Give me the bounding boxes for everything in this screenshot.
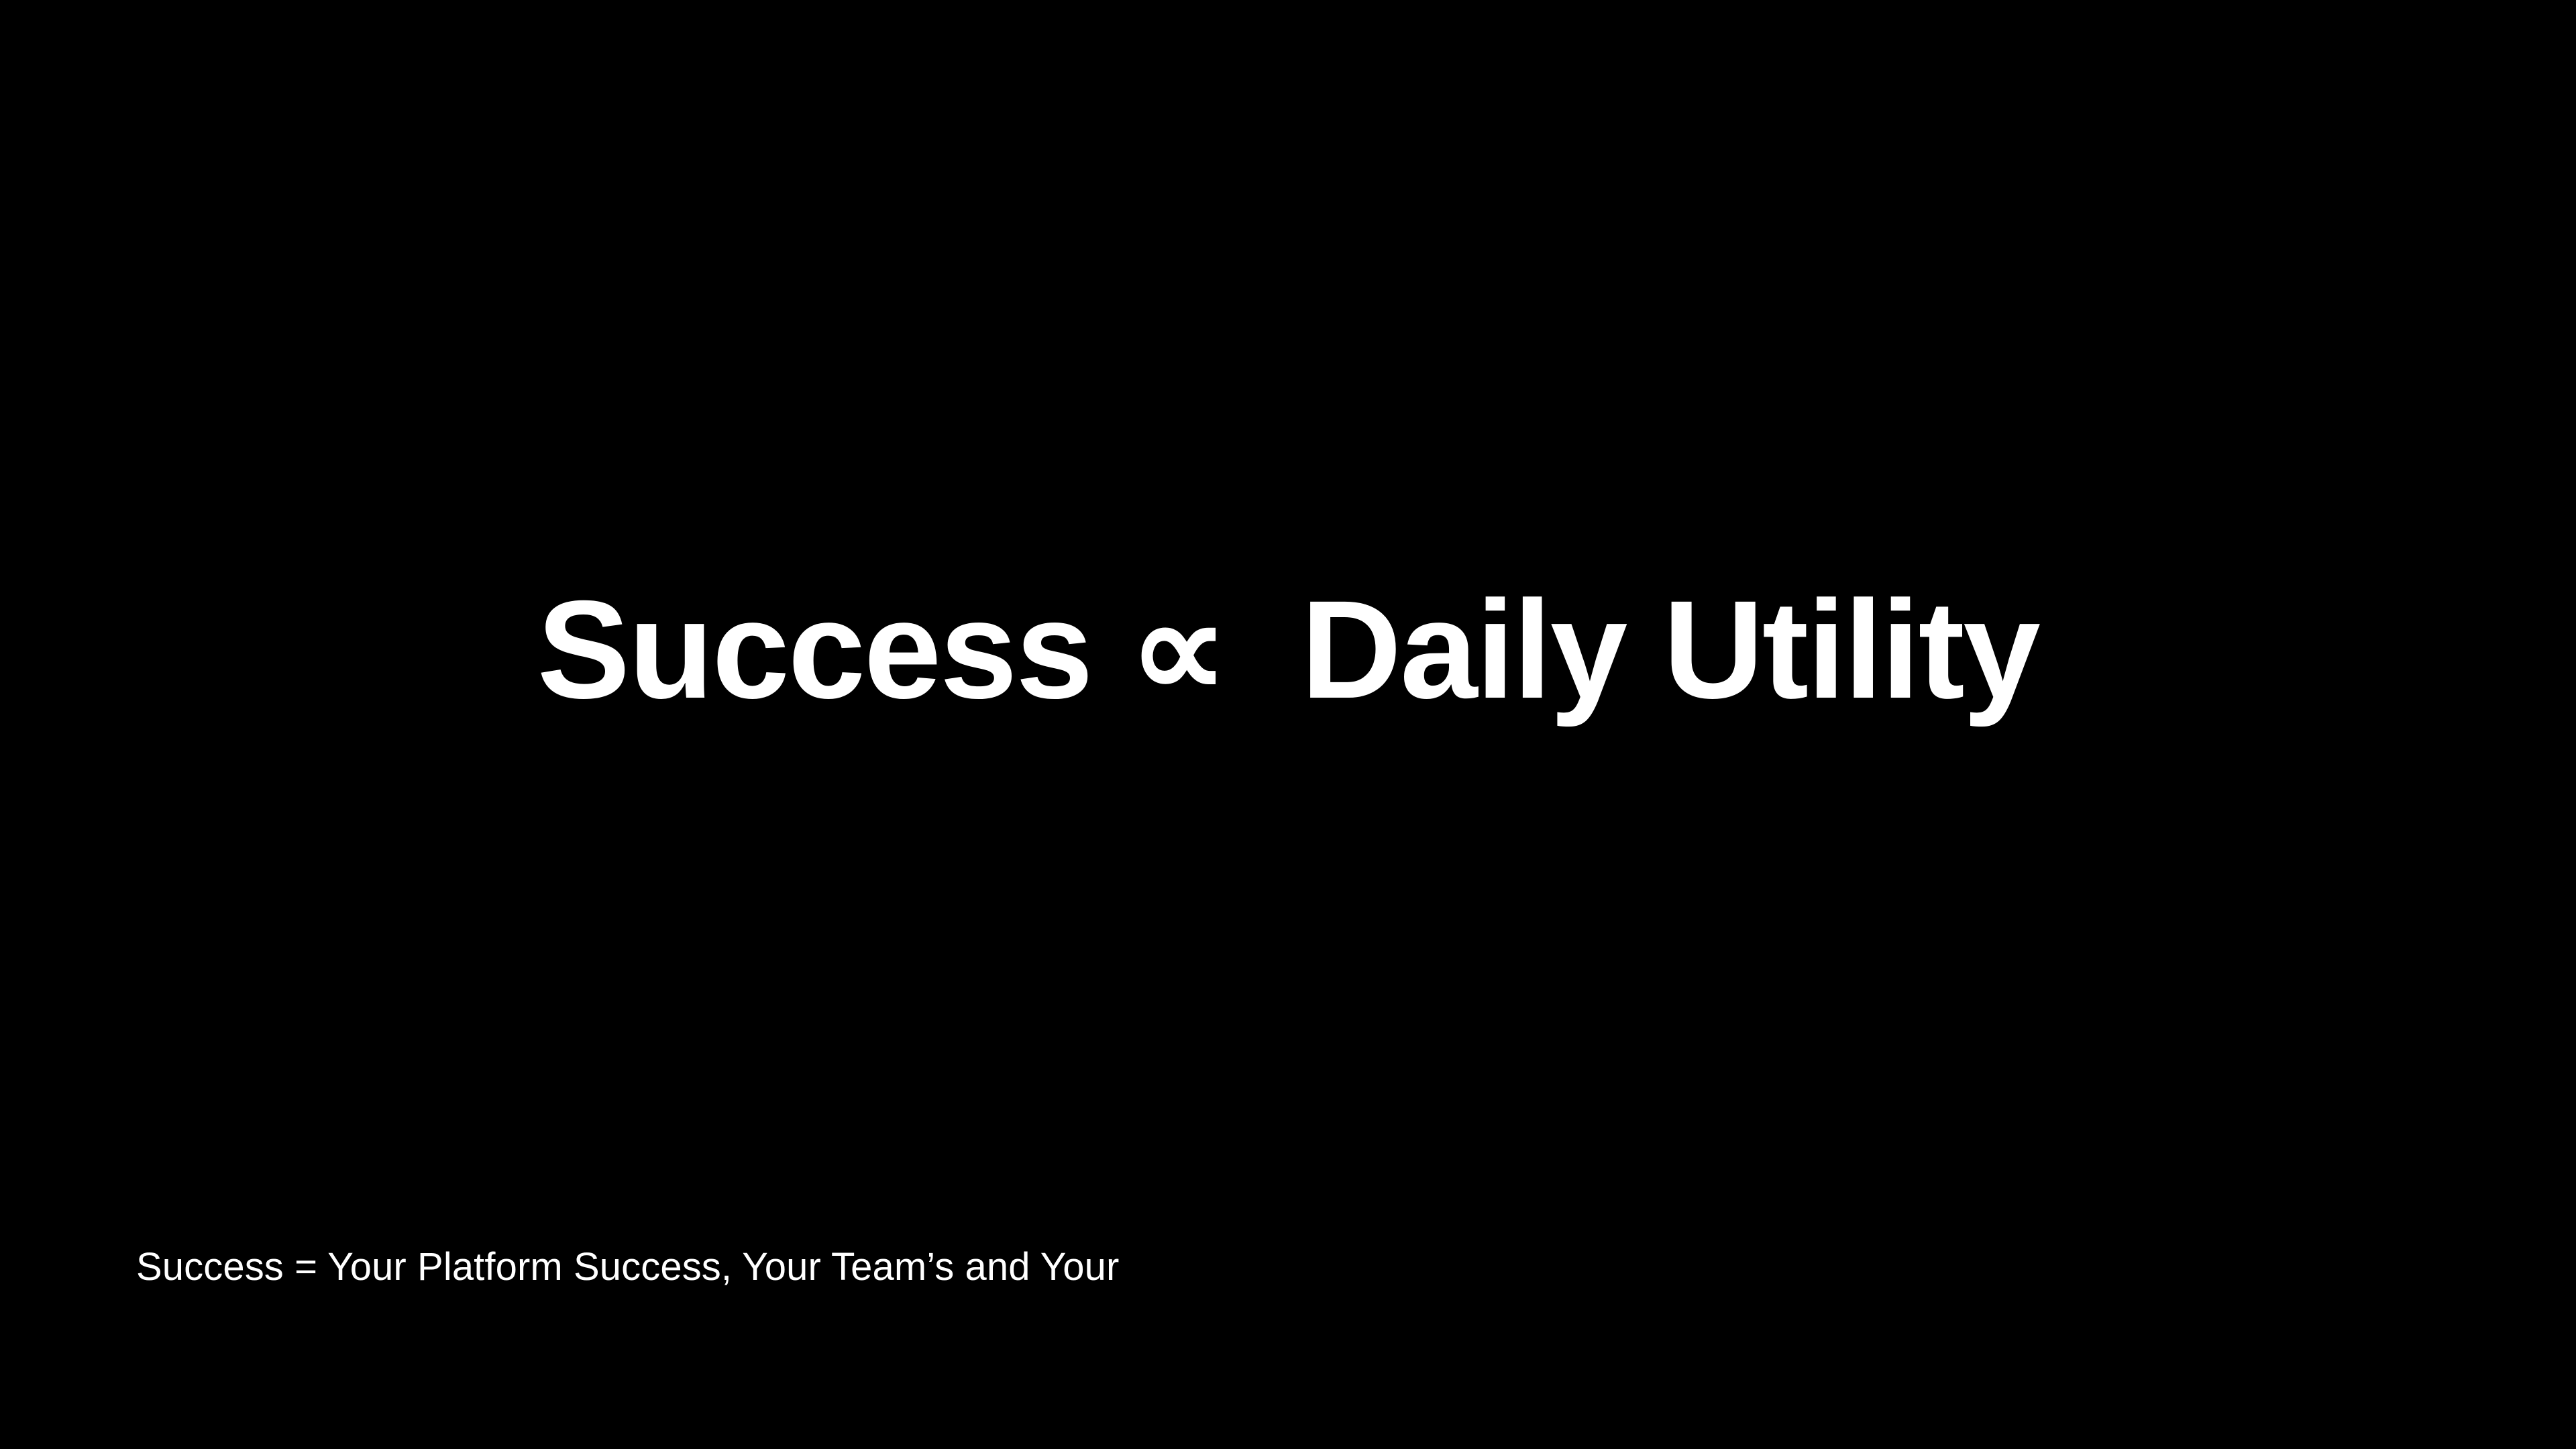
- slide-canvas: Success ∝ Daily Utility Success = Your P…: [0, 0, 2576, 1449]
- caption-text: Success = Your Platform Success, Your Te…: [136, 1244, 1119, 1290]
- page-title: Success ∝ Daily Utility: [537, 580, 2039, 751]
- headline-container: Success ∝ Daily Utility: [0, 0, 2576, 751]
